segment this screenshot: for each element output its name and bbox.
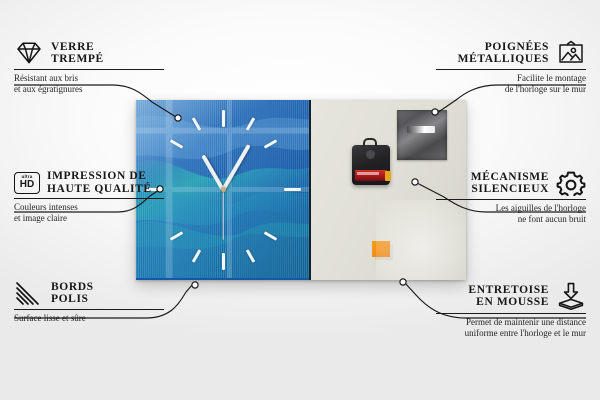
clock-tick <box>222 253 225 270</box>
clock-hand-cap <box>221 187 226 192</box>
battery <box>355 170 387 181</box>
callout-poignees-metalliques: POIGNÉES MÉTALLIQUES Facilite le montage… <box>436 40 586 95</box>
product-photo <box>136 100 466 280</box>
callout-subtitle: Permet de maintenir une distance uniform… <box>436 317 586 339</box>
mechanism-shaft <box>366 150 375 159</box>
callout-subtitle: Facilite le montage de l'horloge sur le … <box>436 73 586 95</box>
callout-title: ENTRETOISE EN MOUSSE <box>468 284 549 309</box>
callout-title: MÉCANISME SILENCIEUX <box>471 171 549 196</box>
callout-subtitle: Les aiguilles de l'horloge ne font aucun… <box>436 203 586 225</box>
callout-impression-haute-qualite: ultra HD IMPRESSION DE HAUTE QUALITÉ Cou… <box>14 170 164 224</box>
callout-mecanisme-silencieux: MÉCANISME SILENCIEUX Les aiguilles de l'… <box>436 170 586 225</box>
clock-tick <box>284 188 301 191</box>
metal-hanger-plate <box>397 110 447 160</box>
callout-subtitle: Surface lisse et sûre <box>14 313 164 324</box>
callout-title: VERRE TREMPÉ <box>51 41 104 66</box>
callout-verre-trempe: VERRE TREMPÉ Résistant aux bris et aux é… <box>14 40 164 95</box>
callout-title: IMPRESSION DE HAUTE QUALITÉ <box>47 170 152 195</box>
callout-rule <box>436 69 586 70</box>
clock-hand-second <box>222 190 223 240</box>
callout-rule <box>436 313 586 314</box>
callout-rule <box>14 309 164 310</box>
callout-rule <box>14 69 164 70</box>
callout-entretoise-en-mousse: ENTRETOISE EN MOUSSE Permet de maintenir… <box>436 282 586 339</box>
infographic-canvas: VERRE TREMPÉ Résistant aux bris et aux é… <box>0 0 600 400</box>
callout-rule <box>436 199 586 200</box>
battery-label <box>357 172 379 175</box>
hanger-slot <box>407 126 435 133</box>
callout-bords-polis: BORDS POLIS Surface lisse et sûre <box>14 280 164 324</box>
foam-spacer-icon <box>556 282 586 310</box>
ultra-hd-badge-icon: ultra HD <box>14 172 40 194</box>
callout-subtitle: Résistant aux bris et aux égratignures <box>14 73 164 95</box>
gear-icon <box>556 170 586 196</box>
callout-title: BORDS POLIS <box>51 281 94 306</box>
clock-tick <box>222 110 225 127</box>
callout-rule <box>14 198 164 199</box>
connector-dot-bords-polis <box>192 282 198 288</box>
polished-edges-icon <box>14 280 44 306</box>
foam-spacer <box>372 241 390 257</box>
clock-mechanism <box>352 145 390 185</box>
diamond-icon <box>14 40 44 66</box>
hd-label: HD <box>20 180 34 190</box>
mechanism-hook <box>363 138 377 147</box>
battery-terminal <box>385 171 391 181</box>
picture-hanger-icon <box>556 40 586 66</box>
callout-subtitle: Couleurs intenses et image claire <box>14 202 164 224</box>
callout-title: POIGNÉES MÉTALLIQUES <box>458 41 549 66</box>
